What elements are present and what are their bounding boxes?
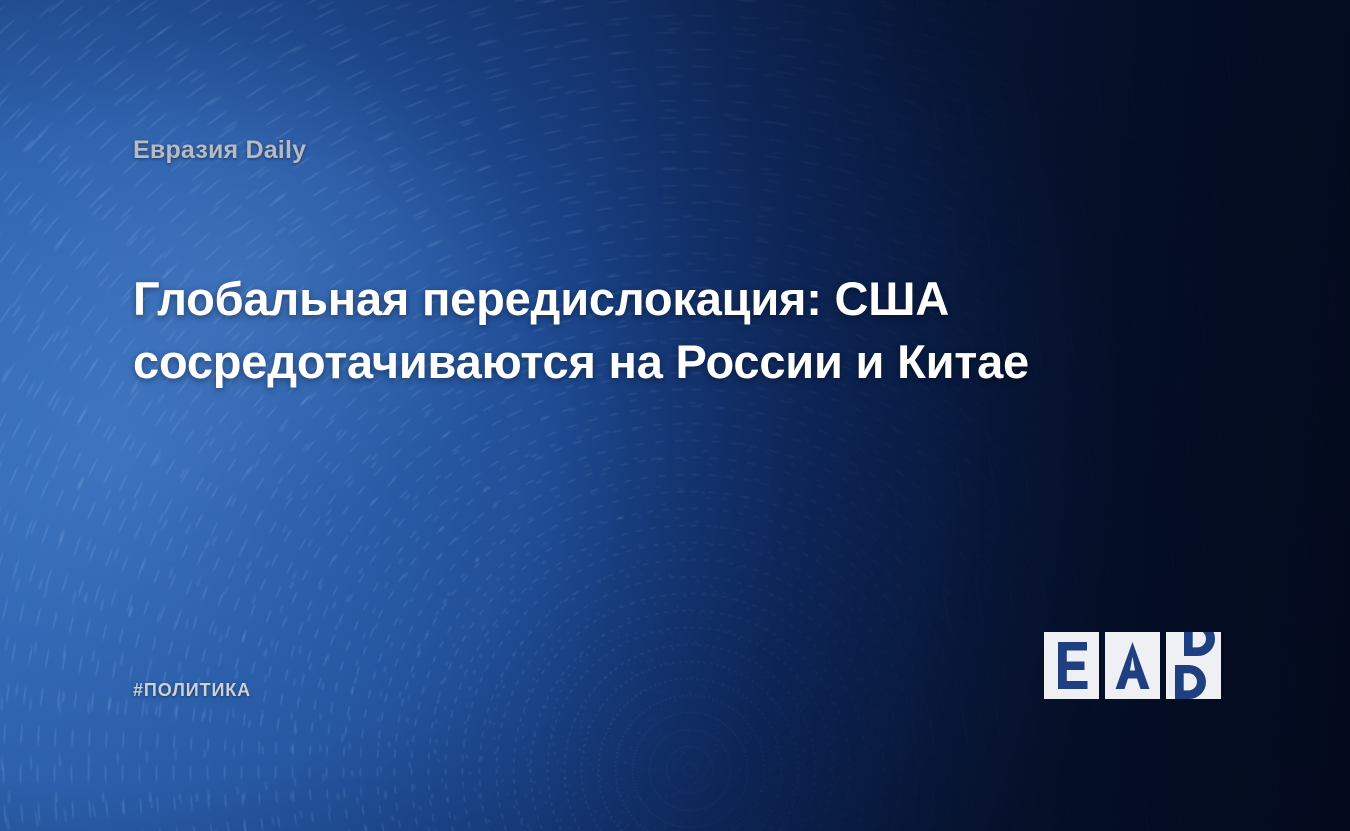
page-title: Глобальная передислокация: США сосредота…: [133, 268, 1223, 394]
category-hashtag[interactable]: #ПОЛИТИКА: [133, 680, 251, 701]
card-content: Евразия Daily Глобальная передислокация:…: [0, 0, 1350, 831]
ead-logo-svg: [1044, 632, 1222, 699]
logo-letter-e: [1058, 642, 1088, 689]
article-cover-card: Евразия Daily Глобальная передислокация:…: [0, 0, 1350, 831]
logo-letter-d-upper-stem: [1184, 632, 1193, 656]
brand-label: Евразия Daily: [133, 136, 306, 165]
logo-letter-d-lower-stem: [1175, 665, 1184, 699]
headline-line-2: сосредотачиваются на России и Китае: [133, 331, 1223, 394]
ead-logo[interactable]: [1044, 632, 1222, 699]
headline-line-1: Глобальная передислокация: США: [133, 268, 1223, 331]
